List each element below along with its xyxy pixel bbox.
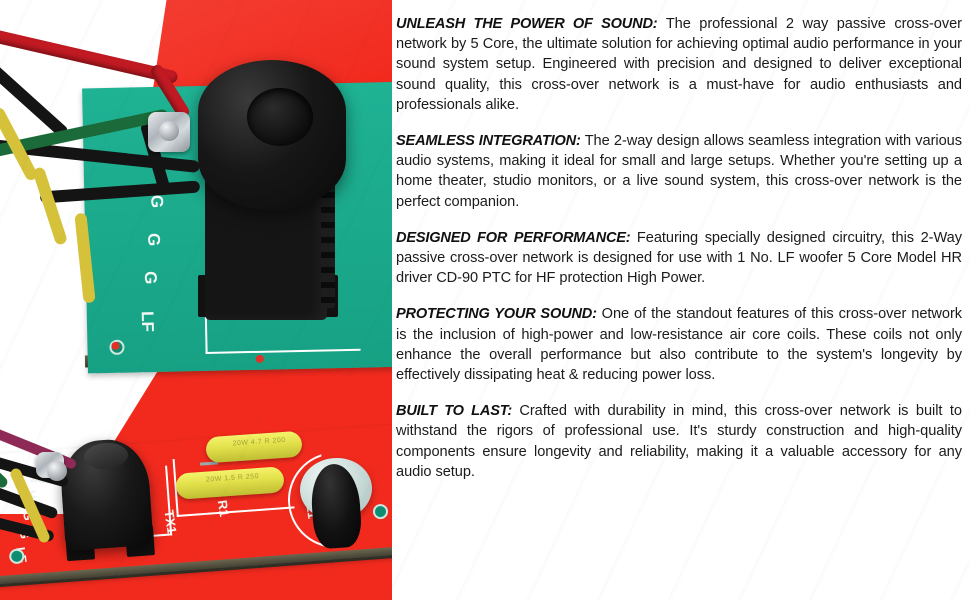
silkscreen-label-g3: G: [140, 271, 160, 285]
feature-paragraph-1: UNLEASH THE POWER OF SOUND: The professi…: [396, 14, 962, 115]
solder-pad-bottom: [0, 554, 2, 563]
feature-paragraph-3: DESIGNED FOR PERFORMANCE: Featuring spec…: [396, 228, 962, 289]
feature-heading-2: SEAMLESS INTEGRATION:: [396, 133, 585, 149]
screw-terminal: [148, 112, 190, 152]
product-detail-banner: G G G LF IN HF: [0, 0, 970, 600]
transformer-center-hole: [247, 88, 313, 146]
feature-paragraph-5: BUILT TO LAST: Crafted with durability i…: [396, 401, 962, 482]
feature-heading-1: UNLEASH THE POWER OF SOUND:: [396, 16, 666, 32]
silkscreen-label-g1: G: [146, 195, 166, 209]
feature-heading-4: PROTECTING YOUR SOUND:: [396, 306, 602, 322]
feature-paragraph-2: SEAMLESS INTEGRATION: The 2-way design a…: [396, 131, 962, 212]
feature-heading-5: BUILT TO LAST:: [396, 403, 519, 419]
description-column: UNLEASH THE POWER OF SOUND: The professi…: [396, 0, 970, 600]
mounting-hole-bottom-right: [372, 504, 388, 520]
feature-heading-3: DESIGNED FOR PERFORMANCE:: [396, 230, 637, 246]
product-photo: G G G LF IN HF: [0, 0, 392, 600]
silkscreen-label-lf: LF: [137, 311, 157, 332]
solder-pad-small: [256, 355, 264, 363]
resistor-marking-1: 20W 4.7 R 200: [232, 437, 286, 448]
resistor-marking-2: 20W 1.5 R 250: [206, 473, 260, 484]
screw-terminal-lower: [36, 452, 64, 478]
silkscreen-label-g2: G: [143, 233, 163, 247]
wire-yellow-2: [32, 166, 68, 246]
feature-paragraph-4: PROTECTING YOUR SOUND: One of the stando…: [396, 304, 962, 385]
